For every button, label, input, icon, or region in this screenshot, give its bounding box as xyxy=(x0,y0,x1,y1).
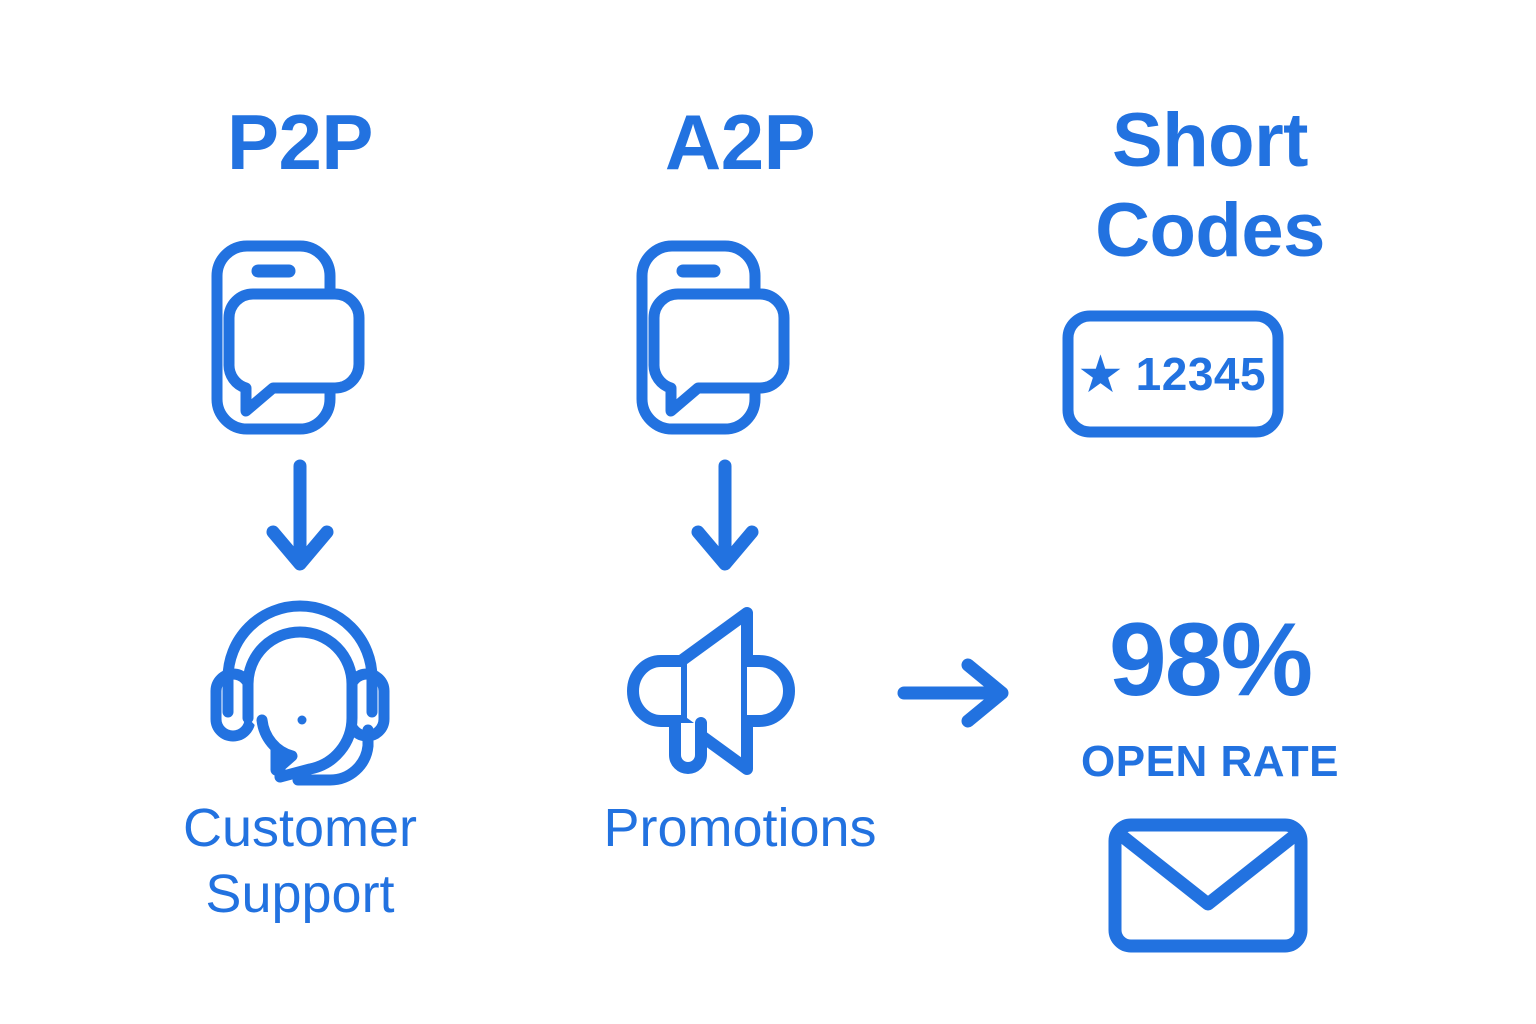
arrow-down-icon xyxy=(691,460,759,572)
diagram-canvas: P2P xyxy=(0,0,1536,1024)
megaphone-icon xyxy=(635,603,807,778)
caption-customer-support: Customer Support xyxy=(60,796,540,928)
column-a2p: A2P xyxy=(540,0,940,1024)
phone-message-icon xyxy=(211,240,389,435)
open-rate-stat: 98% OPEN RATE xyxy=(1000,608,1420,784)
open-rate-label: OPEN RATE xyxy=(1000,740,1420,784)
a2p-heading: A2P xyxy=(540,104,940,180)
star-icon: ★ xyxy=(1080,347,1122,401)
envelope-icon xyxy=(1108,818,1308,953)
column-p2p: P2P xyxy=(60,0,540,1024)
p2p-heading: P2P xyxy=(60,104,540,180)
short-code-plate-icon: ★ 12345 xyxy=(1062,310,1284,438)
short-codes-heading: Short Codes xyxy=(1000,96,1420,275)
caption-promotions: Promotions xyxy=(540,796,940,862)
short-code-content: ★ 12345 xyxy=(1062,310,1284,438)
phone-message-icon xyxy=(636,240,814,435)
arrow-down-icon xyxy=(266,460,334,572)
arrow-right-icon xyxy=(898,655,1010,731)
short-code-digits: 12345 xyxy=(1136,347,1266,401)
headset-support-icon xyxy=(210,598,390,780)
column-short-codes: Short Codes ★ 12345 xyxy=(1000,0,1420,1024)
open-rate-value: 98% xyxy=(1000,608,1420,712)
